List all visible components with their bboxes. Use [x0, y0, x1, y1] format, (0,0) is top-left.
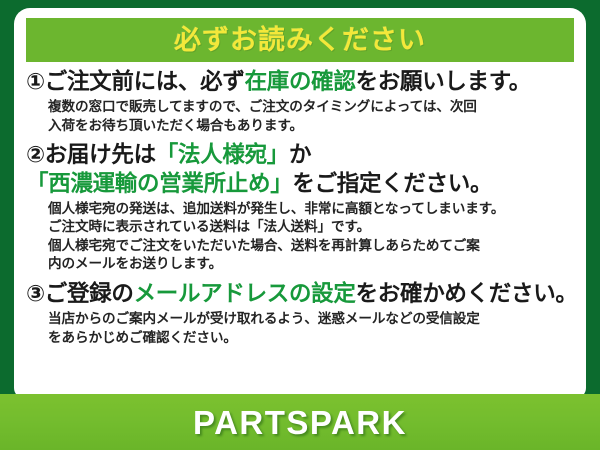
notice-item-2-heading: ②お届け先は「法人様宛」か「西濃運輸の営業所止め」をご指定ください。: [26, 141, 576, 198]
notice-item-1-body-line-2: 入荷をお待ち頂いただく場合もあります。: [48, 117, 576, 135]
notice-item-1-heading-highlight: 在庫の確認: [245, 69, 356, 94]
footer-bar: PARTSPARK: [0, 394, 600, 450]
brand-logo: PARTSPARK: [193, 406, 407, 439]
notice-item-2-heading-post: をご指定ください。: [292, 171, 492, 196]
notice-item-3-heading-highlight: メールアドレスの設定: [134, 281, 356, 306]
notice-item-2-body-line-2: ご注文時に表示されている送料は「法人送料」です。: [48, 218, 576, 236]
notice-item-3-body-line-2: をあらかじめご確認ください。: [48, 329, 576, 347]
header-title: 必ずお読みください: [174, 27, 426, 54]
notice-item-2-body-line-4: 内のメールをお送りします。: [48, 255, 576, 273]
notice-item-1-body: 複数の窓口で販売してますので、ご注文のタイミングによっては、次回 入荷をお待ち頂…: [48, 98, 576, 135]
notice-item-1-heading-pre: ご注文前には、必ず: [45, 69, 245, 94]
notice-item-2-number: ②: [26, 142, 45, 167]
notice-item-1-number: ①: [26, 69, 45, 94]
notice-item-3-heading-post: をお確かめください。: [356, 281, 578, 306]
header-bar: 必ずお読みください: [26, 18, 574, 62]
notice-item-1: ①ご注文前には、必ず在庫の確認をお願いします。 複数の窓口で販売してますので、ご…: [26, 68, 576, 135]
notice-item-3-heading-pre: ご登録の: [45, 281, 134, 306]
notice-item-2-body-line-3: 個人様宅宛でご注文をいただいた場合、送料を再計算しあらためてご案: [48, 237, 576, 255]
notice-item-3-body-line-1: 当店からのご案内メールが受け取れるよう、迷惑メールなどの受信設定: [48, 310, 576, 328]
notice-item-3: ③ご登録のメールアドレスの設定をお確かめください。 当店からのご案内メールが受け…: [26, 280, 576, 347]
notice-item-2-body: 個人様宅宛の発送は、追加送料が発生し、非常に高額となってしまいます。 ご注文時に…: [48, 200, 576, 274]
notice-banner: 必ずお読みください ①ご注文前には、必ず在庫の確認をお願いします。 複数の窓口で…: [0, 0, 600, 450]
notice-card: 必ずお読みください ①ご注文前には、必ず在庫の確認をお願いします。 複数の窓口で…: [14, 8, 586, 398]
notice-item-3-body: 当店からのご案内メールが受け取れるよう、迷惑メールなどの受信設定 をあらかじめご…: [48, 310, 576, 347]
notice-item-1-body-line-1: 複数の窓口で販売してますので、ご注文のタイミングによっては、次回: [48, 98, 576, 116]
notice-item-2-heading-pre: お届け先は: [45, 142, 156, 167]
notice-item-2-body-line-1: 個人様宅宛の発送は、追加送料が発生し、非常に高額となってしまいます。: [48, 200, 576, 218]
notice-item-2-heading-highlight-2: 「西濃運輸の営業所止め」: [26, 171, 292, 196]
notice-item-2-heading-mid: か: [289, 142, 311, 167]
notice-item-3-heading: ③ご登録のメールアドレスの設定をお確かめください。: [26, 280, 576, 308]
notice-item-2: ②お届け先は「法人様宛」か「西濃運輸の営業所止め」をご指定ください。 個人様宅宛…: [26, 141, 576, 274]
notice-item-1-heading: ①ご注文前には、必ず在庫の確認をお願いします。: [26, 68, 576, 96]
notice-item-1-heading-post: をお願いします。: [356, 69, 531, 94]
notice-item-3-number: ③: [26, 281, 45, 306]
notice-item-2-heading-highlight: 「法人様宛」: [156, 142, 289, 167]
notice-items-list: ①ご注文前には、必ず在庫の確認をお願いします。 複数の窓口で販売してますので、ご…: [14, 68, 586, 353]
